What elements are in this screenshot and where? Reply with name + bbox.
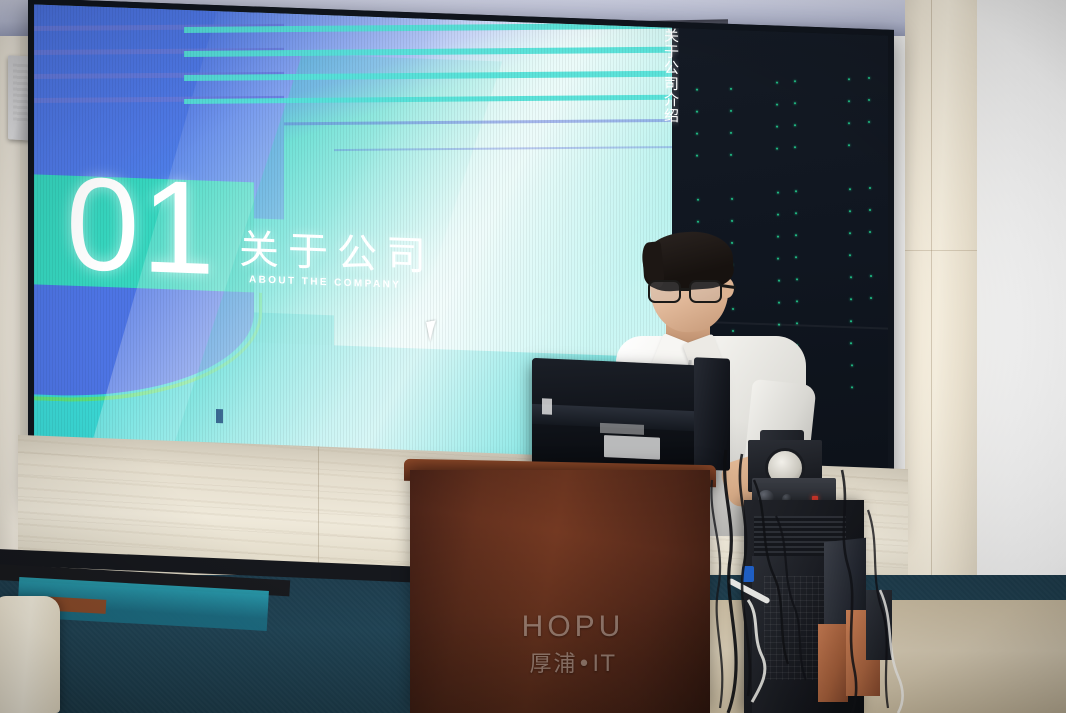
monitor-label-plate — [604, 435, 660, 460]
podium-logo-suffix: •IT — [578, 652, 617, 677]
eyeglasses-icon — [648, 280, 730, 304]
podium: HOPU 厚浦•IT — [410, 470, 710, 713]
slide-title-cn: 关于公司 — [239, 217, 435, 282]
monitor-sticker — [542, 398, 552, 414]
podium-logo-cn: 厚浦•IT — [508, 646, 638, 678]
cable-bundle — [690, 450, 830, 713]
chair — [0, 596, 60, 713]
rack-cable — [828, 470, 918, 713]
eyeglasses-lens-left — [648, 280, 681, 303]
eyeglasses-lens-right — [689, 280, 722, 303]
screenshot-root: 01 关于公司 ABOUT THE COMPANY 关于公司介绍 — [0, 0, 1066, 713]
podium-logo-latin: HOPU — [508, 610, 638, 644]
slide-section-number: 01 — [66, 158, 217, 296]
slide-marker — [216, 409, 223, 423]
podium-logo: HOPU 厚浦•IT — [508, 610, 638, 678]
slide-vertical-text: 关于公司介绍 — [653, 27, 679, 228]
podium-logo-cn-text: 厚浦 — [530, 652, 578, 677]
monitor-vesa-plate — [600, 423, 644, 435]
stone-seam — [905, 250, 977, 251]
eyeglasses-bridge — [681, 288, 690, 291]
